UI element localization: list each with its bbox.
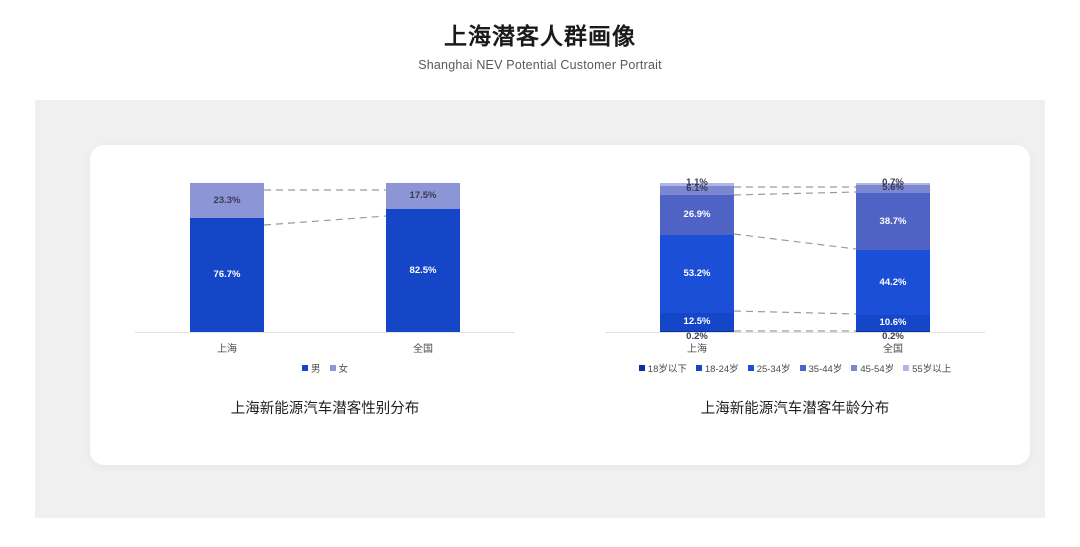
gender-segment-female-national: 17.5% bbox=[386, 183, 460, 209]
age-segment-18-24-shanghai: 12.5% bbox=[660, 313, 734, 331]
age-segment-35-44-shanghai: 26.9% bbox=[660, 195, 734, 235]
age-legend-item-55plus[interactable]: 55岁以上 bbox=[903, 361, 951, 375]
age-bar-shanghai: 1.1% 6.1% 26.9% 53.2% 12.5% bbox=[660, 183, 734, 332]
gender-segment-male-national: 82.5% bbox=[386, 209, 460, 332]
age-legend-item-35-44[interactable]: 35-44岁 bbox=[800, 361, 843, 375]
age-label-18-24-national: 10.6% bbox=[880, 318, 907, 328]
age-axis-line bbox=[605, 332, 985, 333]
gender-label-male-national: 82.5% bbox=[410, 266, 437, 276]
age-tick-shanghai: 上海 bbox=[660, 340, 734, 355]
age-segment-45-54-national: 5.6% bbox=[856, 185, 930, 193]
gender-legend-label-male: 男 bbox=[311, 361, 321, 375]
gender-tick-national: 全国 bbox=[386, 340, 460, 355]
age-segment-under18-national: 0.2% bbox=[856, 331, 930, 332]
page-subtitle: Shanghai NEV Potential Customer Portrait bbox=[0, 58, 1080, 72]
legend-swatch-icon bbox=[302, 365, 308, 371]
age-legend-label-55plus: 55岁以上 bbox=[912, 361, 951, 375]
gender-legend-item-female[interactable]: 女 bbox=[330, 361, 349, 375]
gender-tick-shanghai: 上海 bbox=[190, 340, 264, 355]
legend-swatch-icon bbox=[696, 365, 702, 371]
gender-legend: 男 女 bbox=[302, 361, 348, 375]
age-legend-label-under18: 18岁以下 bbox=[648, 361, 687, 375]
age-label-45-54-shanghai: 6.1% bbox=[686, 184, 708, 194]
age-legend-label-18-24: 18-24岁 bbox=[705, 361, 739, 375]
legend-swatch-icon bbox=[639, 365, 645, 371]
age-label-18-24-shanghai: 12.5% bbox=[684, 317, 711, 327]
gender-label-male-shanghai: 76.7% bbox=[214, 270, 241, 280]
legend-swatch-icon bbox=[851, 365, 857, 371]
gender-segment-female-shanghai: 23.3% bbox=[190, 183, 264, 218]
age-chart-caption: 上海新能源汽车潜客年龄分布 bbox=[701, 397, 890, 418]
age-tick-national: 全国 bbox=[856, 340, 930, 355]
age-legend-item-45-54[interactable]: 45-54岁 bbox=[851, 361, 894, 375]
age-chart-cell: 1.1% 6.1% 26.9% 53.2% 12.5% bbox=[560, 145, 1030, 465]
gender-chart-caption: 上海新能源汽车潜客性别分布 bbox=[231, 397, 420, 418]
age-legend: 18岁以下 18-24岁 25-34岁 35-44岁 bbox=[639, 361, 951, 375]
age-legend-item-18-24[interactable]: 18-24岁 bbox=[696, 361, 739, 375]
age-bar-national: 0.7% 5.6% 38.7% 44.2% 10.6% bbox=[856, 183, 930, 332]
age-segment-18-24-national: 10.6% bbox=[856, 315, 930, 331]
content-panel: 23.3% 76.7% 17.5% 82.5% bbox=[35, 100, 1045, 518]
gender-label-female-shanghai: 23.3% bbox=[214, 196, 241, 206]
age-label-35-44-shanghai: 26.9% bbox=[684, 210, 711, 220]
age-plot: 1.1% 6.1% 26.9% 53.2% 12.5% bbox=[605, 183, 985, 333]
age-legend-label-45-54: 45-54岁 bbox=[860, 361, 894, 375]
age-legend-item-25-34[interactable]: 25-34岁 bbox=[748, 361, 791, 375]
age-legend-item-under18[interactable]: 18岁以下 bbox=[639, 361, 687, 375]
gender-legend-label-female: 女 bbox=[339, 361, 349, 375]
age-segment-35-44-national: 38.7% bbox=[856, 193, 930, 250]
gender-bar-national: 17.5% 82.5% bbox=[386, 183, 460, 332]
gender-legend-item-male[interactable]: 男 bbox=[302, 361, 321, 375]
charts-card: 23.3% 76.7% 17.5% 82.5% bbox=[90, 145, 1030, 465]
age-segment-25-34-national: 44.2% bbox=[856, 250, 930, 315]
gender-axis-line bbox=[135, 332, 515, 333]
charts-row: 23.3% 76.7% 17.5% 82.5% bbox=[90, 145, 1030, 465]
age-segment-25-34-shanghai: 53.2% bbox=[660, 235, 734, 313]
gender-plot: 23.3% 76.7% 17.5% 82.5% bbox=[135, 183, 515, 333]
gender-bar-shanghai: 23.3% 76.7% bbox=[190, 183, 264, 332]
age-label-25-34-shanghai: 53.2% bbox=[684, 269, 711, 279]
legend-swatch-icon bbox=[800, 365, 806, 371]
age-label-45-54-national: 5.6% bbox=[882, 183, 904, 193]
age-segment-under18-shanghai: 0.2% bbox=[660, 331, 734, 332]
legend-swatch-icon bbox=[748, 365, 754, 371]
legend-swatch-icon bbox=[330, 365, 336, 371]
legend-swatch-icon bbox=[903, 365, 909, 371]
age-legend-label-25-34: 25-34岁 bbox=[757, 361, 791, 375]
gender-chart-cell: 23.3% 76.7% 17.5% 82.5% bbox=[90, 145, 560, 465]
page-title: 上海潜客人群画像 bbox=[0, 22, 1080, 51]
gender-label-female-national: 17.5% bbox=[410, 191, 437, 201]
age-label-35-44-national: 38.7% bbox=[880, 217, 907, 227]
age-segment-45-54-shanghai: 6.1% bbox=[660, 186, 734, 195]
gender-segment-male-shanghai: 76.7% bbox=[190, 218, 264, 332]
page-header: 上海潜客人群画像 Shanghai NEV Potential Customer… bbox=[0, 0, 1080, 72]
age-legend-label-35-44: 35-44岁 bbox=[809, 361, 843, 375]
age-label-25-34-national: 44.2% bbox=[880, 278, 907, 288]
